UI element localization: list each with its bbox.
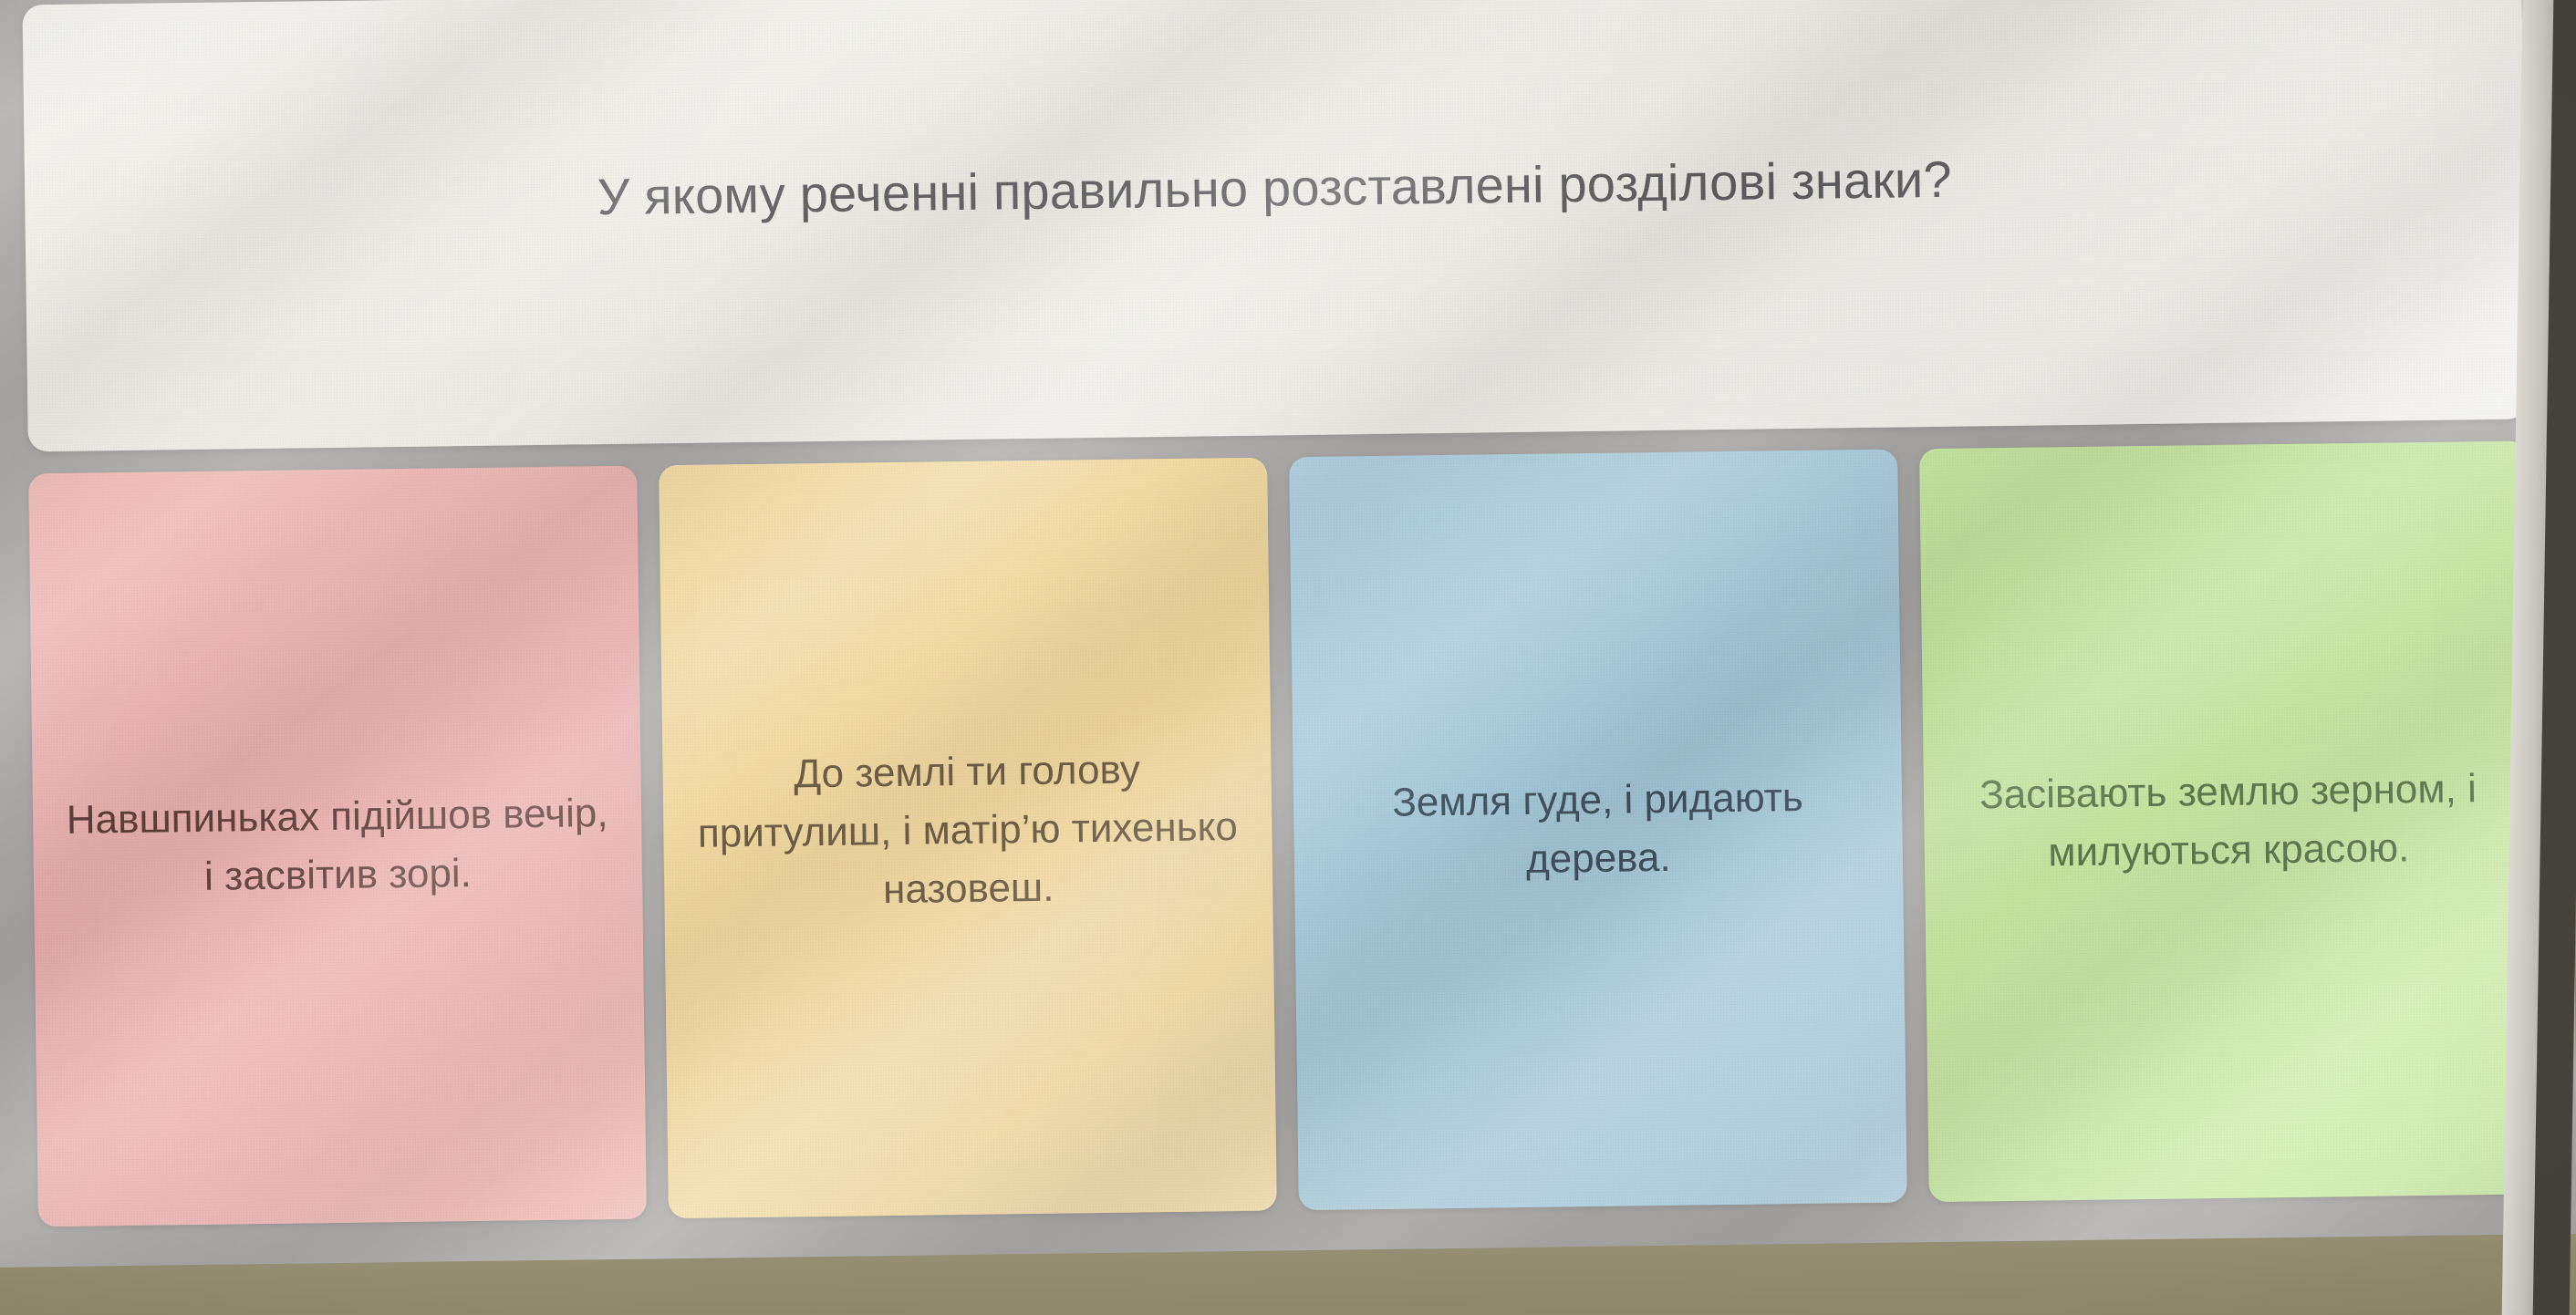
answer-option-c[interactable]: Земля гуде, і ридають дерева. [1289, 450, 1907, 1211]
question-text: У якому реченні правильно розставлені ро… [524, 147, 2025, 231]
answer-option-d[interactable]: Засівають землю зерном, і милуються крас… [1919, 440, 2538, 1202]
answer-option-b-text: До землі ти голову притулиш, і матір’ю т… [662, 740, 1272, 922]
answer-option-b[interactable]: До землі ти голову притулиш, і матір’ю т… [659, 458, 1277, 1219]
answer-option-a-text: Навшпиньках підійшов вечір, і засвітив з… [33, 784, 643, 908]
question-panel: У якому реченні правильно розставлені ро… [22, 0, 2527, 451]
quiz-board: У якому реченні правильно розставлені ро… [22, 0, 2537, 1227]
answer-option-d-text: Засівають землю зерном, і милуються крас… [1924, 760, 2534, 884]
projector-screen: У якому реченні правильно розставлені ро… [0, 0, 2576, 1268]
answers-row: Навшпиньках підійшов вечір, і засвітив з… [28, 440, 2538, 1227]
answer-option-a[interactable]: Навшпиньках підійшов вечір, і засвітив з… [28, 466, 647, 1227]
answer-option-c-text: Земля гуде, і ридають дерева. [1293, 768, 1904, 892]
photo-scene: У якому реченні правильно розставлені ро… [0, 0, 2576, 1315]
screen-texture-question [22, 0, 2527, 451]
